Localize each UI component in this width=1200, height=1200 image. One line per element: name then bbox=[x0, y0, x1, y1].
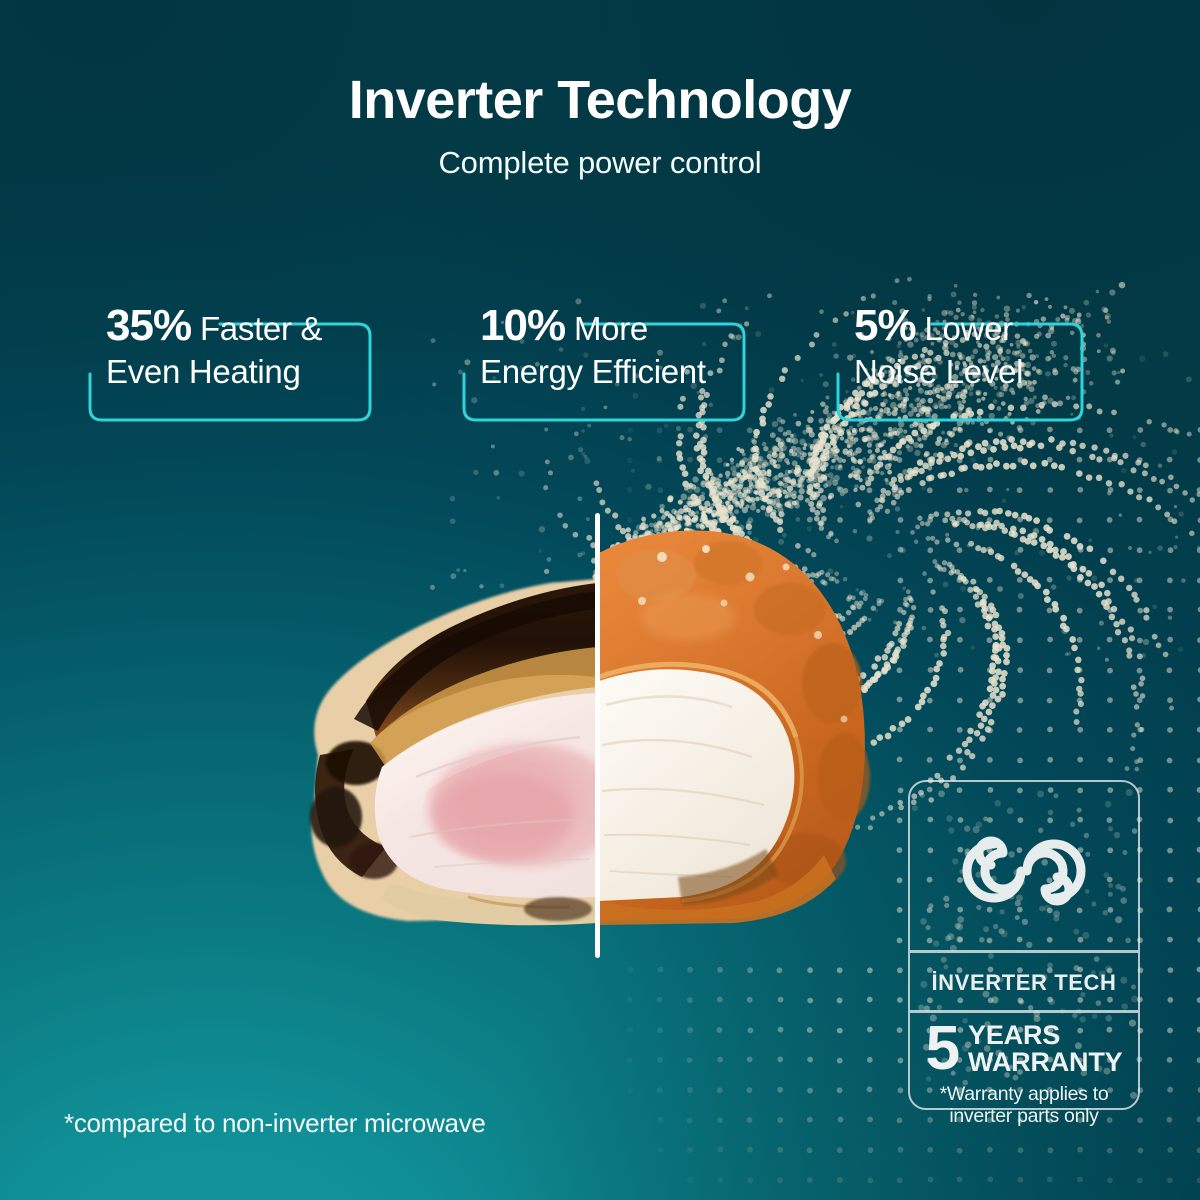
warranty-note-line1: *Warranty applies to bbox=[912, 1084, 1136, 1106]
image-split-divider bbox=[595, 513, 600, 958]
stat-value: 5% bbox=[854, 301, 916, 350]
footnote: *compared to non-inverter microwave bbox=[64, 1108, 486, 1139]
stat-value: 35% bbox=[106, 301, 191, 350]
stat-label-line1: Faster & bbox=[200, 310, 322, 347]
stat-badge-text: 35% Faster & Even Heating bbox=[106, 300, 358, 391]
infographic-canvas: Inverter Technology Complete power contr… bbox=[0, 0, 1200, 1200]
warranty-badge: İNVERTER TECH 5 YEARS WARRANTY *Warranty… bbox=[908, 780, 1140, 1110]
stat-value: 10% bbox=[480, 301, 565, 350]
infinity-icon bbox=[910, 806, 1138, 936]
stat-badge-noise-level: 5% Lower Noise Level bbox=[836, 300, 1084, 422]
warranty-note-line2: inverter parts only bbox=[912, 1106, 1136, 1128]
stat-label-line1: More bbox=[574, 310, 648, 347]
chicken-comparison-image bbox=[258, 505, 898, 965]
stat-label-line2: Even Heating bbox=[106, 353, 358, 391]
inverter-tech-label: İNVERTER TECH bbox=[910, 960, 1138, 1006]
stat-badge-faster-heating: 35% Faster & Even Heating bbox=[88, 300, 372, 422]
warranty-years-word: YEARS bbox=[968, 1022, 1122, 1049]
food-right-cooked bbox=[599, 530, 870, 925]
header: Inverter Technology Complete power contr… bbox=[0, 72, 1200, 181]
stat-badge-text: 5% Lower Noise Level bbox=[854, 300, 1070, 391]
stat-badge-text: 10% More Energy Efficient bbox=[480, 300, 732, 391]
stat-badge-row: 35% Faster & Even Heating 10% More Energ… bbox=[0, 300, 1200, 430]
badge-divider-top bbox=[910, 950, 1138, 953]
stat-label-line2: Energy Efficient bbox=[480, 353, 732, 391]
stat-label-line1: Lower bbox=[924, 310, 1012, 347]
page-title: Inverter Technology bbox=[0, 72, 1200, 129]
warranty-note: *Warranty applies to inverter parts only bbox=[912, 1084, 1136, 1128]
stat-label-line2: Noise Level bbox=[854, 353, 1070, 391]
page-subtitle: Complete power control bbox=[0, 145, 1200, 181]
warranty-word: WARRANTY bbox=[968, 1049, 1122, 1076]
stat-badge-energy-efficient: 10% More Energy Efficient bbox=[462, 300, 746, 422]
warranty-years-number: 5 bbox=[926, 1022, 960, 1077]
food-left-burnt bbox=[310, 579, 622, 925]
warranty-years: 5 YEARS WARRANTY bbox=[910, 1016, 1138, 1082]
badge-divider-bottom bbox=[910, 1010, 1138, 1013]
